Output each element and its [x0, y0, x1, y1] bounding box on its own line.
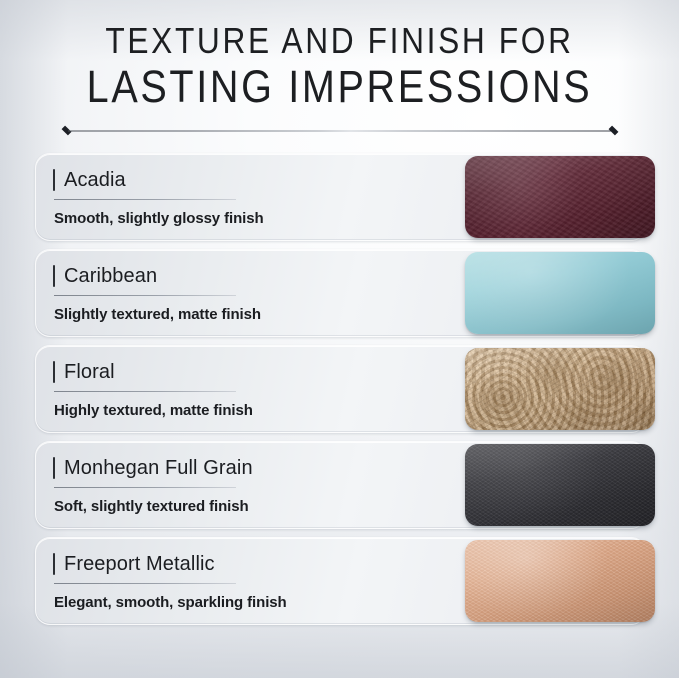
- page-title-line-1: TEXTURE AND FINISH FOR: [57, 22, 623, 60]
- finish-name-rule: [54, 391, 236, 392]
- swatch-surface: [465, 156, 655, 238]
- finish-description: Smooth, slightly glossy finish: [54, 210, 445, 227]
- finish-name-rule: [54, 295, 236, 296]
- accent-bar-icon: [53, 553, 55, 575]
- finish-name-row: Freeport Metallic: [53, 553, 445, 575]
- list-item[interactable]: Freeport Metallic Elegant, smooth, spark…: [0, 537, 679, 625]
- finish-card-text: Freeport Metallic Elegant, smooth, spark…: [53, 553, 445, 611]
- accent-bar-icon: [53, 265, 55, 287]
- finish-name: Acadia: [64, 170, 126, 190]
- finish-name-rule: [54, 583, 236, 584]
- finish-name: Caribbean: [64, 266, 157, 286]
- finish-name: Freeport Metallic: [64, 554, 215, 574]
- finish-name: Monhegan Full Grain: [64, 458, 253, 478]
- swatch-acadia[interactable]: [465, 156, 655, 238]
- poster-root: TEXTURE AND FINISH FOR LASTING IMPRESSIO…: [0, 0, 679, 678]
- swatch-surface: [465, 348, 655, 430]
- list-item[interactable]: Acadia Smooth, slightly glossy finish: [0, 153, 679, 241]
- finish-card-text: Caribbean Slightly textured, matte finis…: [53, 265, 445, 323]
- accent-bar-icon: [53, 169, 55, 191]
- swatch-freeport[interactable]: [465, 540, 655, 622]
- finish-name-row: Monhegan Full Grain: [53, 457, 445, 479]
- list-item[interactable]: Monhegan Full Grain Soft, slightly textu…: [0, 441, 679, 529]
- swatch-monhegan[interactable]: [465, 444, 655, 526]
- finish-name-row: Floral: [53, 361, 445, 383]
- accent-bar-icon: [53, 457, 55, 479]
- poster-header: TEXTURE AND FINISH FOR LASTING IMPRESSIO…: [0, 0, 679, 138]
- title-divider: [60, 124, 620, 138]
- finish-list: Acadia Smooth, slightly glossy finish Ca…: [0, 153, 679, 625]
- swatch-surface: [465, 444, 655, 526]
- finish-description: Highly textured, matte finish: [54, 402, 445, 419]
- diamond-icon: [608, 126, 618, 136]
- finish-name-row: Acadia: [53, 169, 445, 191]
- finish-description: Soft, slightly textured finish: [54, 498, 445, 515]
- finish-description: Elegant, smooth, sparkling finish: [54, 594, 445, 611]
- finish-name: Floral: [64, 362, 115, 382]
- accent-bar-icon: [53, 361, 55, 383]
- swatch-caribbean[interactable]: [465, 252, 655, 334]
- swatch-surface: [465, 252, 655, 334]
- list-item[interactable]: Caribbean Slightly textured, matte finis…: [0, 249, 679, 337]
- finish-card-text: Acadia Smooth, slightly glossy finish: [53, 169, 445, 227]
- list-item[interactable]: Floral Highly textured, matte finish: [0, 345, 679, 433]
- page-title-line-2: LASTING IMPRESSIONS: [57, 63, 623, 111]
- finish-card-text: Monhegan Full Grain Soft, slightly textu…: [53, 457, 445, 515]
- finish-name-row: Caribbean: [53, 265, 445, 287]
- finish-description: Slightly textured, matte finish: [54, 306, 445, 323]
- swatch-floral[interactable]: [465, 348, 655, 430]
- finish-name-rule: [54, 199, 236, 200]
- finish-name-rule: [54, 487, 236, 488]
- divider-line: [68, 130, 612, 131]
- finish-card-text: Floral Highly textured, matte finish: [53, 361, 445, 419]
- swatch-surface: [465, 540, 655, 622]
